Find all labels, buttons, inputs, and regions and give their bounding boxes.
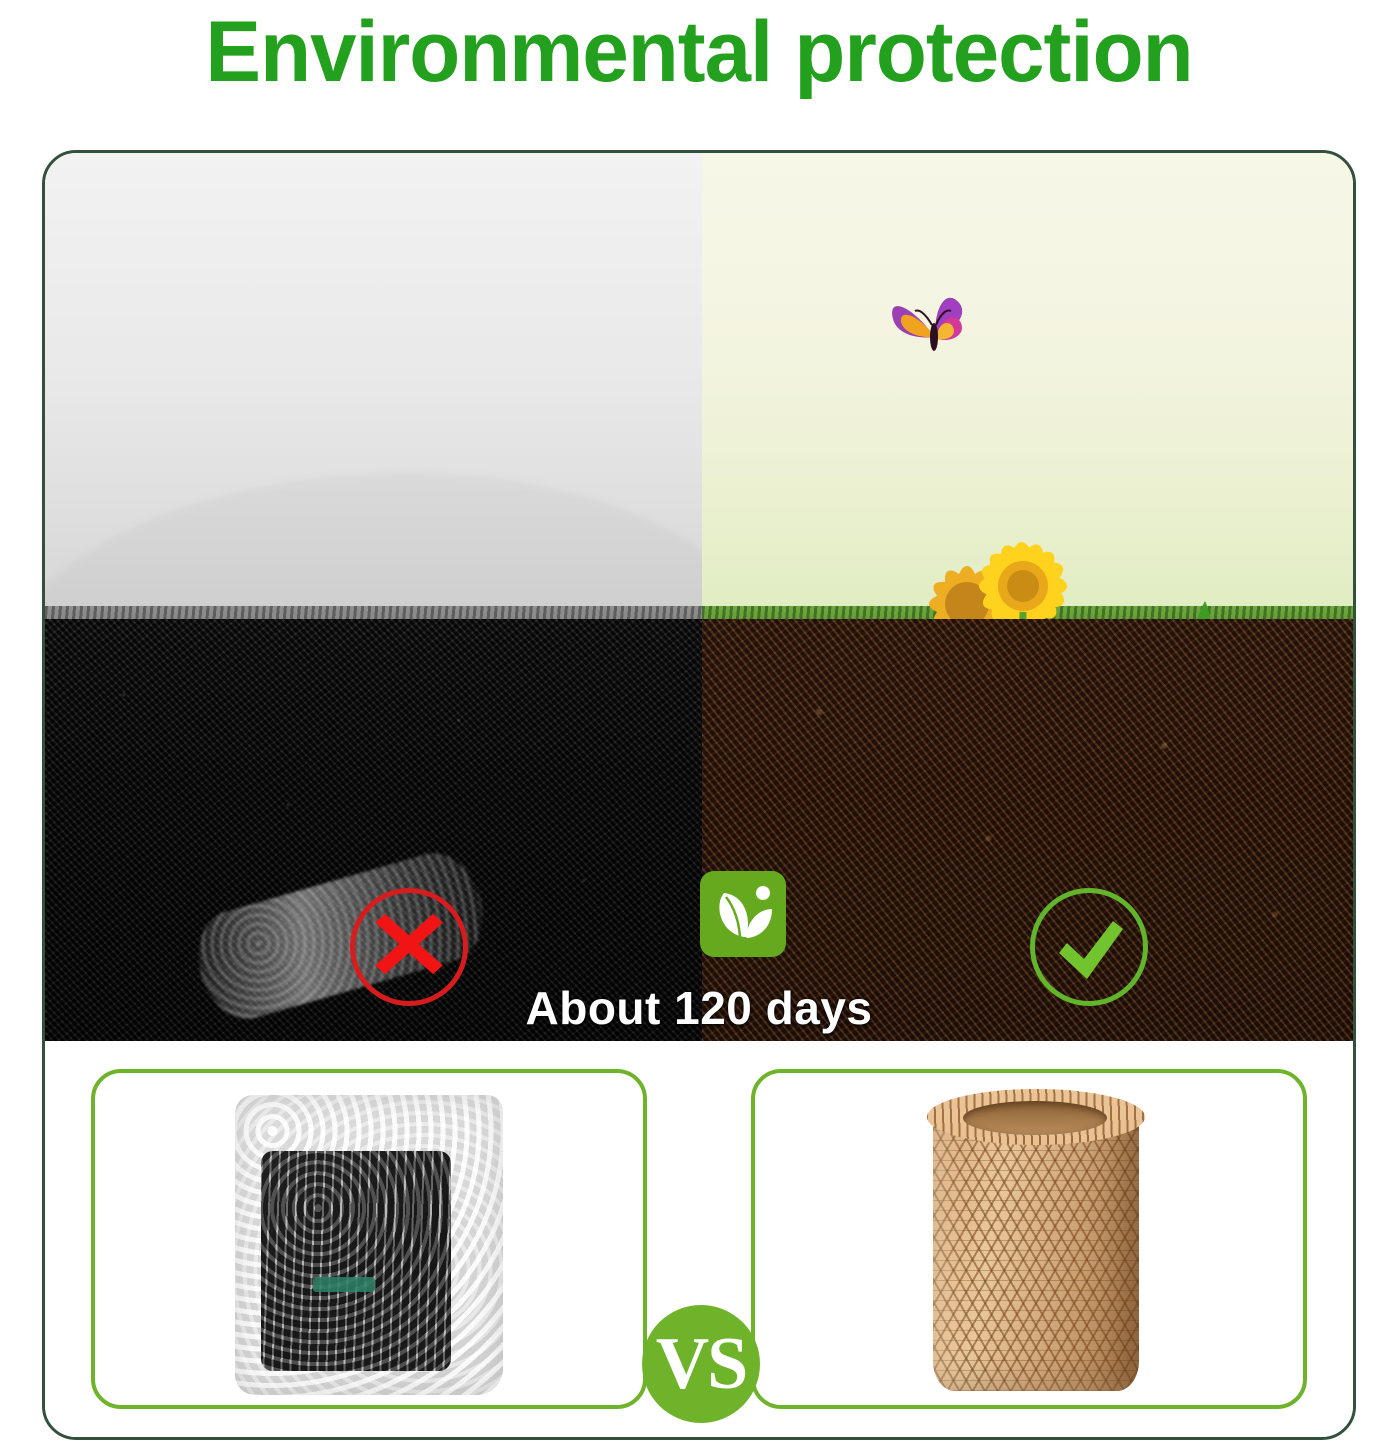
- product-panel-paper: [751, 1069, 1307, 1409]
- check-mark-icon: [1051, 911, 1131, 989]
- product-comparison-row: VS: [45, 1041, 1353, 1440]
- butterfly-icon: [877, 277, 997, 377]
- bubble-wrap-package-image: [235, 1095, 503, 1395]
- product-label-strip: [313, 1277, 375, 1292]
- leaf-sprout-icon: [700, 871, 786, 957]
- soil-brown: [702, 619, 1353, 1041]
- packed-product: [261, 1151, 451, 1371]
- vs-badge: VS: [642, 1305, 760, 1423]
- promo-graphic: Environmental protection: [0, 0, 1398, 1454]
- honeycomb-roll-opening: [963, 1101, 1107, 1135]
- content-frame: ✕ About 120 days: [42, 150, 1356, 1440]
- page-title: Environmental protection: [21, 2, 1377, 102]
- comparison-half-paper: [702, 153, 1353, 1041]
- duration-caption: About 120 days: [45, 981, 1353, 1035]
- product-panel-plastic: [91, 1069, 647, 1409]
- vs-label: VS: [656, 1327, 747, 1401]
- soil-comparison-photo: ✕ About 120 days: [45, 153, 1353, 1041]
